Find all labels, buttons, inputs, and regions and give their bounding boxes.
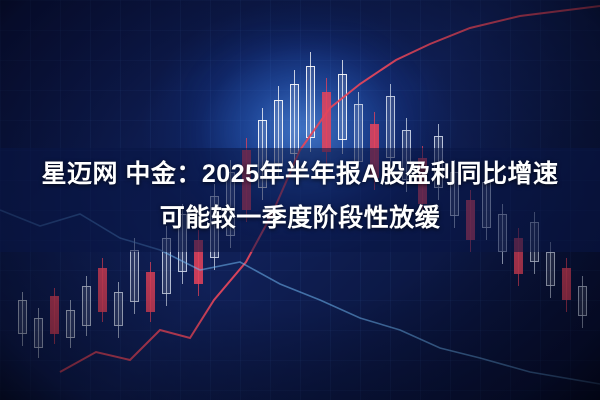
candle-body bbox=[306, 66, 315, 138]
candle-wick bbox=[86, 276, 87, 336]
candle-wick bbox=[582, 276, 583, 328]
candle-wick bbox=[118, 282, 119, 338]
candle-body bbox=[562, 268, 571, 300]
candle-body bbox=[146, 272, 155, 312]
candle-body bbox=[130, 250, 139, 302]
candle-body bbox=[34, 318, 43, 348]
candle-body bbox=[546, 252, 555, 286]
candle-wick bbox=[102, 258, 103, 322]
candle-body bbox=[66, 310, 75, 338]
candle-body bbox=[578, 286, 587, 316]
news-banner-image: 星迈网 中金：2025年半年报A股盈利同比增速 可能较一季度阶段性放缓 bbox=[0, 0, 600, 400]
candle-body bbox=[338, 74, 347, 140]
headline-text: 星迈网 中金：2025年半年报A股盈利同比增速 可能较一季度阶段性放缓 bbox=[0, 152, 600, 240]
candle-body bbox=[322, 92, 331, 152]
candle-wick bbox=[134, 238, 135, 314]
candle-wick bbox=[550, 242, 551, 298]
candle-wick bbox=[150, 262, 151, 322]
headline-line-2: 可能较一季度阶段性放缓 bbox=[0, 196, 600, 240]
candle-body bbox=[514, 238, 523, 274]
candle-wick bbox=[566, 258, 567, 312]
candle-wick bbox=[70, 300, 71, 348]
candle-body bbox=[18, 300, 27, 334]
candle-body bbox=[386, 96, 395, 158]
candle-wick bbox=[342, 60, 343, 154]
candle-body bbox=[162, 238, 171, 294]
candle-wick bbox=[22, 292, 23, 346]
candle-wick bbox=[38, 308, 39, 358]
candle-body bbox=[82, 286, 91, 326]
candle-body bbox=[194, 240, 203, 284]
headline-line-1: 星迈网 中金：2025年半年报A股盈利同比增速 bbox=[0, 152, 600, 196]
candle-body bbox=[50, 296, 59, 334]
candle-body bbox=[114, 292, 123, 326]
candle-body bbox=[98, 268, 107, 312]
candle-wick bbox=[310, 52, 311, 152]
candle-wick bbox=[54, 288, 55, 344]
candle-body bbox=[290, 84, 299, 154]
